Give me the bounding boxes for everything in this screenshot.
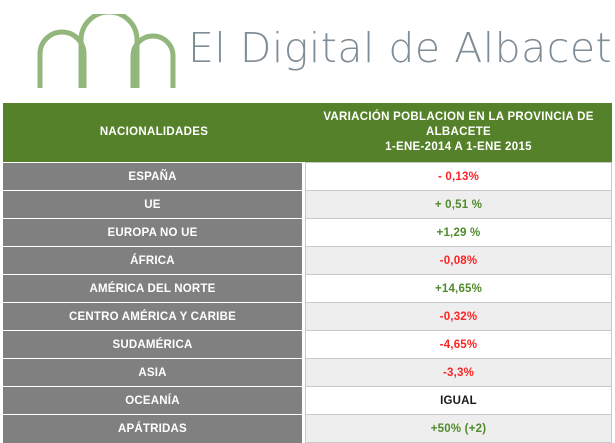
row-value-cell: -4,65% <box>305 330 612 358</box>
header-variation-line3: 1-ENE-2014 A 1-ENE 2015 <box>311 140 606 155</box>
row-value-cell: +1,29 % <box>305 218 612 246</box>
row-label-cell: UE <box>3 190 305 218</box>
row-value-cell: IGUAL <box>305 386 612 414</box>
header-variation-line1: VARIACIÓN POBLACION EN LA PROVINCIA DE <box>311 110 606 125</box>
row-label-cell: ASIA <box>3 358 305 386</box>
row-value-cell: +14,65% <box>305 274 612 302</box>
site-wordmark: El Digital de Albacete <box>188 24 615 72</box>
row-label-cell: ÁFRICA <box>3 246 305 274</box>
three-arches-logo-icon <box>32 14 180 90</box>
row-value-cell: - 0,13% <box>305 162 612 190</box>
site-masthead: El Digital de Albacete <box>0 0 615 103</box>
table-row: AMÉRICA DEL NORTE+14,65% <box>3 274 612 302</box>
row-value-cell: -0,32% <box>305 302 612 330</box>
header-nationalities-label: NACIONALIDADES <box>100 126 208 138</box>
table-row: ÁFRICA-0,08% <box>3 246 612 274</box>
row-label-cell: APÁTRIDAS <box>3 414 305 443</box>
table-row: CENTRO AMÉRICA Y CARIBE-0,32% <box>3 302 612 330</box>
table-row: ASIA-3,3% <box>3 358 612 386</box>
row-label-cell: OCEANÍA <box>3 386 305 414</box>
table-header-row: NACIONALIDADES VARIACIÓN POBLACION EN LA… <box>3 103 612 162</box>
row-label-cell: EUROPA NO UE <box>3 218 305 246</box>
table-body: ESPAÑA- 0,13%UE+ 0,51 %EUROPA NO UE+1,29… <box>3 162 612 443</box>
population-variation-table: NACIONALIDADES VARIACIÓN POBLACION EN LA… <box>3 103 612 443</box>
table-row: UE+ 0,51 % <box>3 190 612 218</box>
table-row: ESPAÑA- 0,13% <box>3 162 612 190</box>
row-label-cell: SUDAMÉRICA <box>3 330 305 358</box>
row-value-cell: -0,08% <box>305 246 612 274</box>
row-label-cell: ESPAÑA <box>3 162 305 190</box>
header-variation-line2: ALBACETE <box>311 125 606 140</box>
row-value-cell: +50% (+2) <box>305 414 612 443</box>
table-row: OCEANÍAIGUAL <box>3 386 612 414</box>
table-row: SUDAMÉRICA-4,65% <box>3 330 612 358</box>
row-label-cell: AMÉRICA DEL NORTE <box>3 274 305 302</box>
header-variation: VARIACIÓN POBLACION EN LA PROVINCIA DE A… <box>305 103 612 162</box>
table-row: APÁTRIDAS+50% (+2) <box>3 414 612 443</box>
row-value-cell: -3,3% <box>305 358 612 386</box>
header-nationalities: NACIONALIDADES <box>3 103 305 162</box>
row-value-cell: + 0,51 % <box>305 190 612 218</box>
row-label-cell: CENTRO AMÉRICA Y CARIBE <box>3 302 305 330</box>
table-row: EUROPA NO UE+1,29 % <box>3 218 612 246</box>
